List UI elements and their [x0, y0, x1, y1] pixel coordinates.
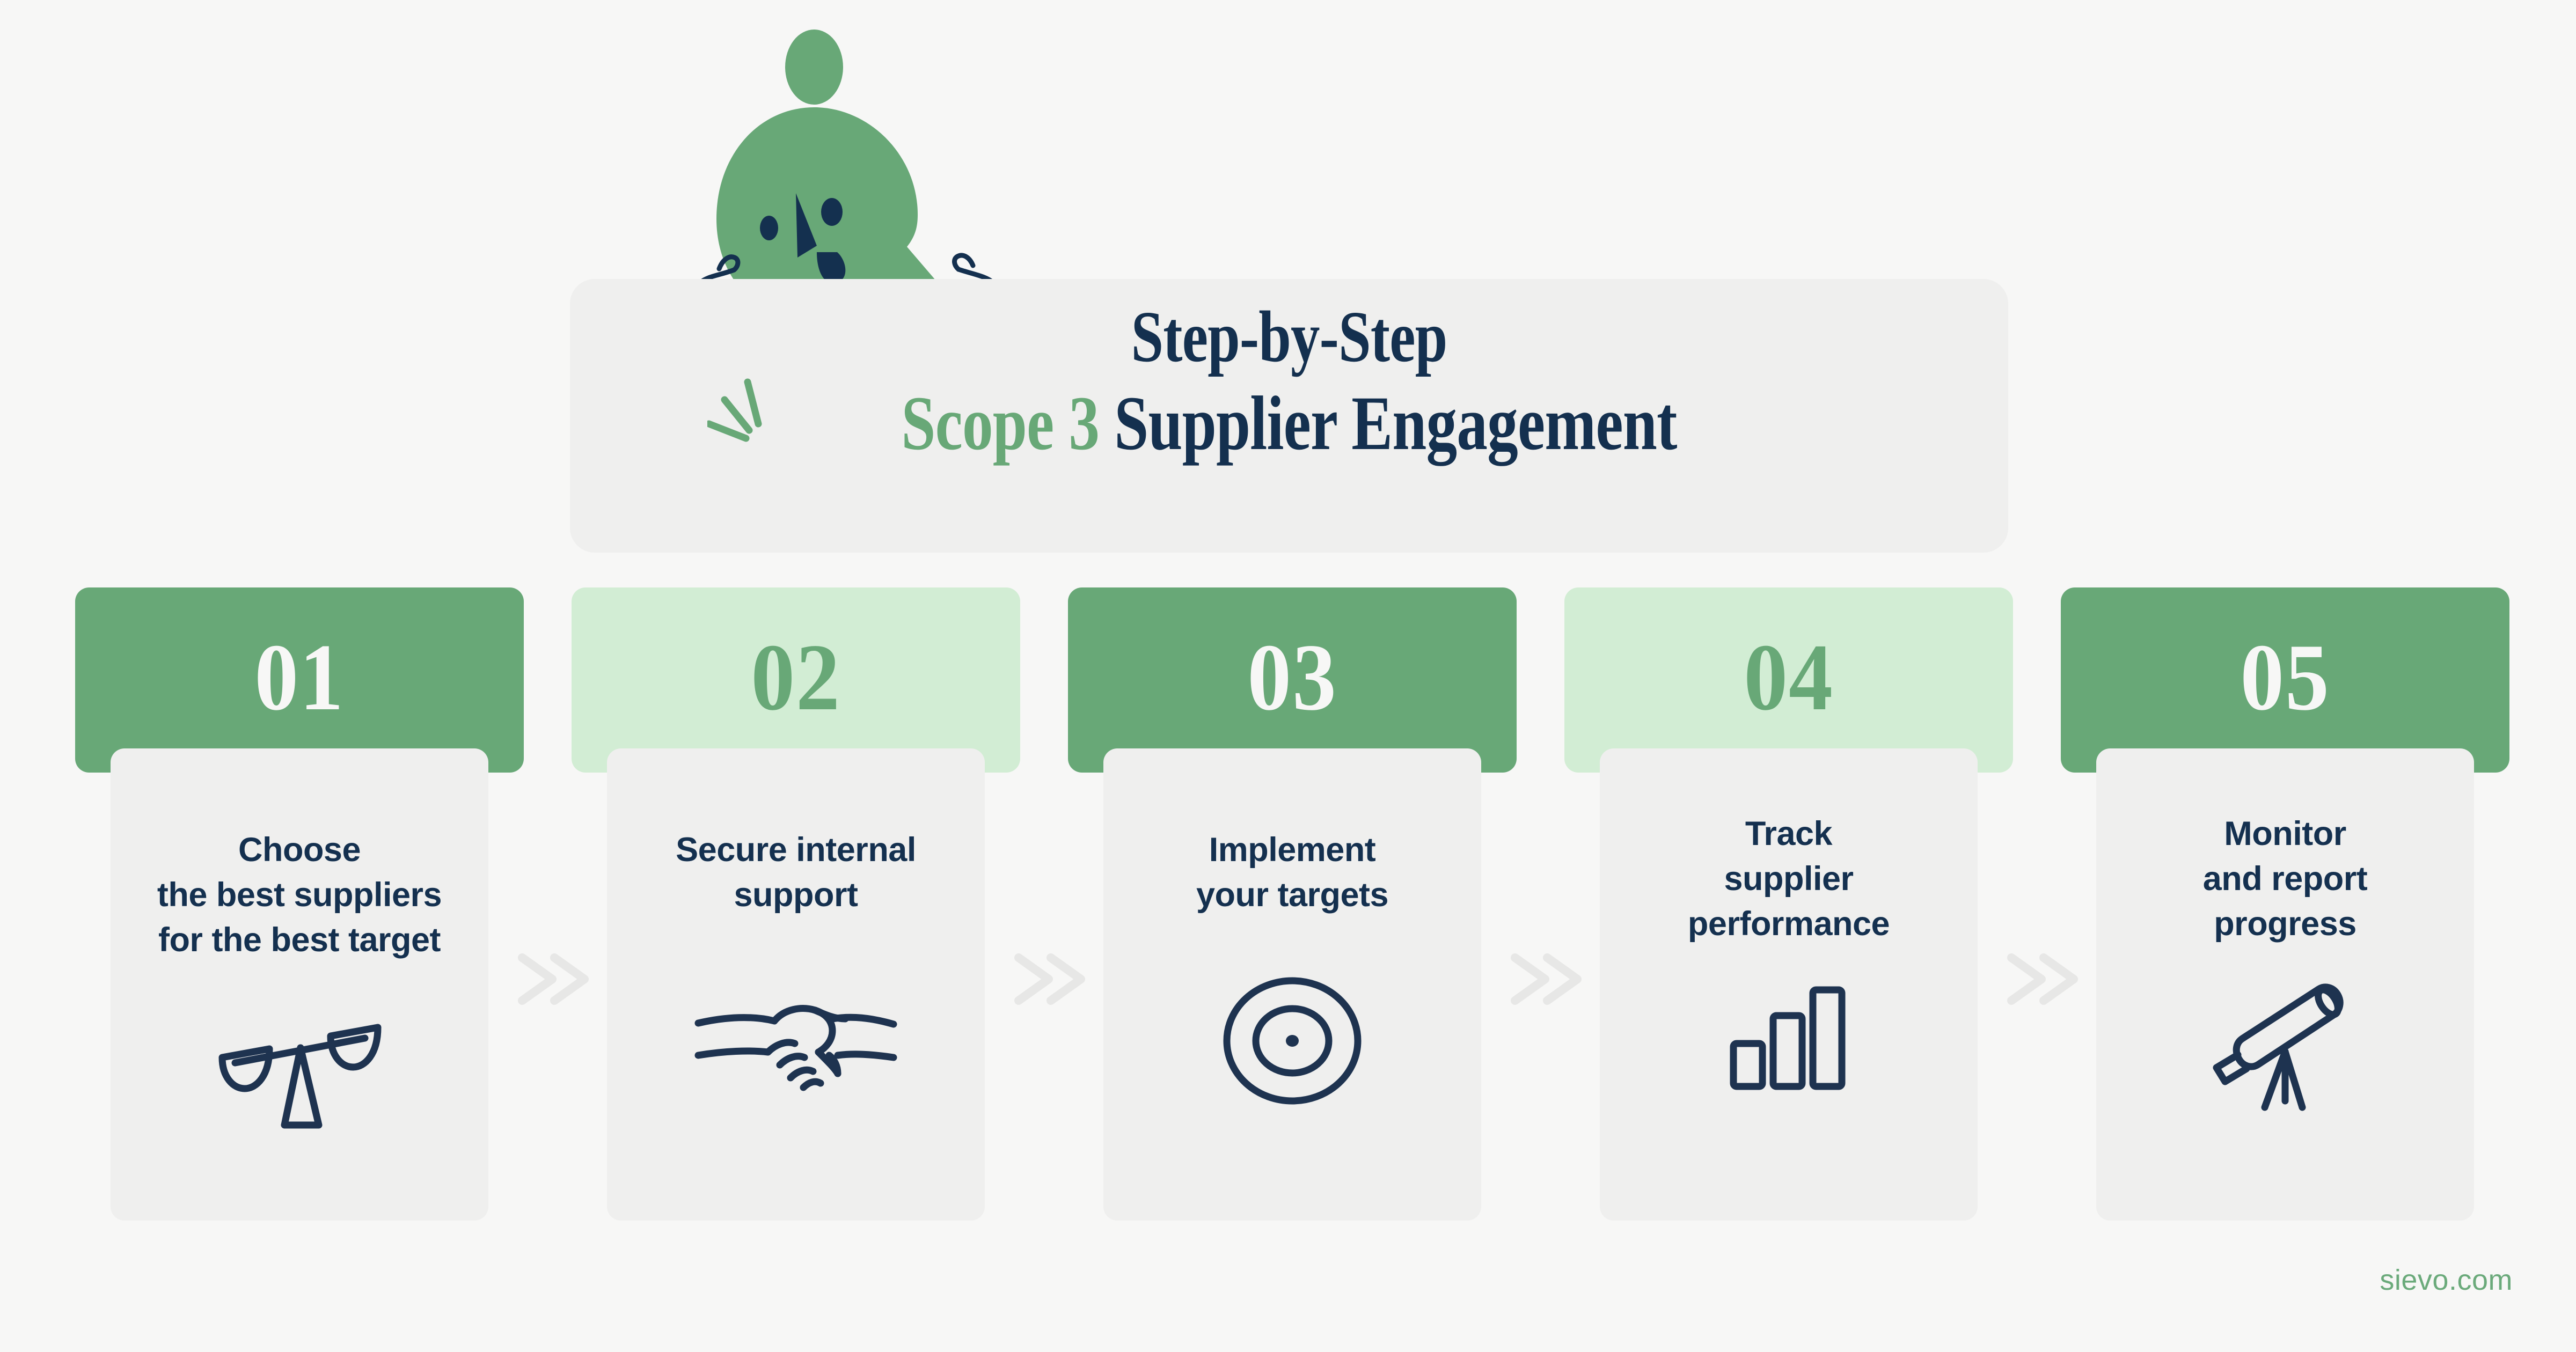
- step-card-01[interactable]: 01 Choose the best suppliers for the bes…: [75, 587, 524, 1221]
- step-card-03-number: 03: [1247, 629, 1337, 725]
- step-card-05-body: Monitor and report progress: [2096, 748, 2474, 1221]
- mascot-right-eye-icon: [821, 198, 843, 226]
- telescope-icon: [2096, 976, 2474, 1116]
- step-card-04-header: 04: [1564, 587, 2013, 773]
- mascot-left-eye-icon: [760, 216, 778, 240]
- step-card-03[interactable]: 03 Implement your targets: [1068, 587, 1517, 1221]
- mascot-head-icon: [785, 30, 843, 105]
- step-card-04-number: 04: [1744, 629, 1833, 725]
- step-card-05-header: 05: [2061, 587, 2509, 773]
- steps-row: 01 Choose the best suppliers for the bes…: [0, 587, 2576, 1221]
- balance-scale-icon: [111, 1001, 488, 1140]
- step-card-01-number: 01: [254, 629, 344, 725]
- step-card-04[interactable]: 04 Track supplier performance: [1564, 587, 2013, 1221]
- infographic-canvas: Step-by-Step Scope 3 Supplier Engagement…: [0, 0, 2576, 1352]
- step-card-01-header: 01: [75, 587, 524, 773]
- step-card-02-number: 02: [751, 629, 840, 725]
- step-card-02[interactable]: 02 Secure internal support: [572, 587, 1020, 1221]
- step-card-04-body: Track supplier performance: [1600, 748, 1978, 1221]
- double-chevron-right-icon-4: [2002, 947, 2088, 1011]
- step-card-03-text: Implement your targets: [1103, 828, 1481, 918]
- step-card-01-text: Choose the best suppliers for the best t…: [111, 828, 488, 962]
- step-card-02-text: Secure internal support: [607, 828, 985, 918]
- step-card-05-number: 05: [2240, 629, 2330, 725]
- step-card-05[interactable]: 05 Monitor and report progress: [2061, 587, 2509, 1221]
- step-card-03-header: 03: [1068, 587, 1517, 773]
- bar-chart-icon: [1600, 984, 1978, 1092]
- double-chevron-right-icon-3: [1505, 947, 1591, 1011]
- step-card-02-header: 02: [572, 587, 1020, 773]
- double-chevron-right-icon-1: [513, 947, 598, 1011]
- handshake-icon: [607, 984, 985, 1108]
- sparkle-lines-icon: [707, 370, 825, 477]
- target-bullseye-icon: [1103, 974, 1481, 1108]
- step-card-04-text: Track supplier performance: [1600, 812, 1978, 946]
- step-card-02-body: Secure internal support: [607, 748, 985, 1221]
- step-card-03-body: Implement your targets: [1103, 748, 1481, 1221]
- step-card-01-body: Choose the best suppliers for the best t…: [111, 748, 488, 1221]
- double-chevron-right-icon-2: [1009, 947, 1095, 1011]
- footer-website-link[interactable]: sievo.com: [2380, 1263, 2513, 1297]
- step-card-05-text: Monitor and report progress: [2096, 812, 2474, 946]
